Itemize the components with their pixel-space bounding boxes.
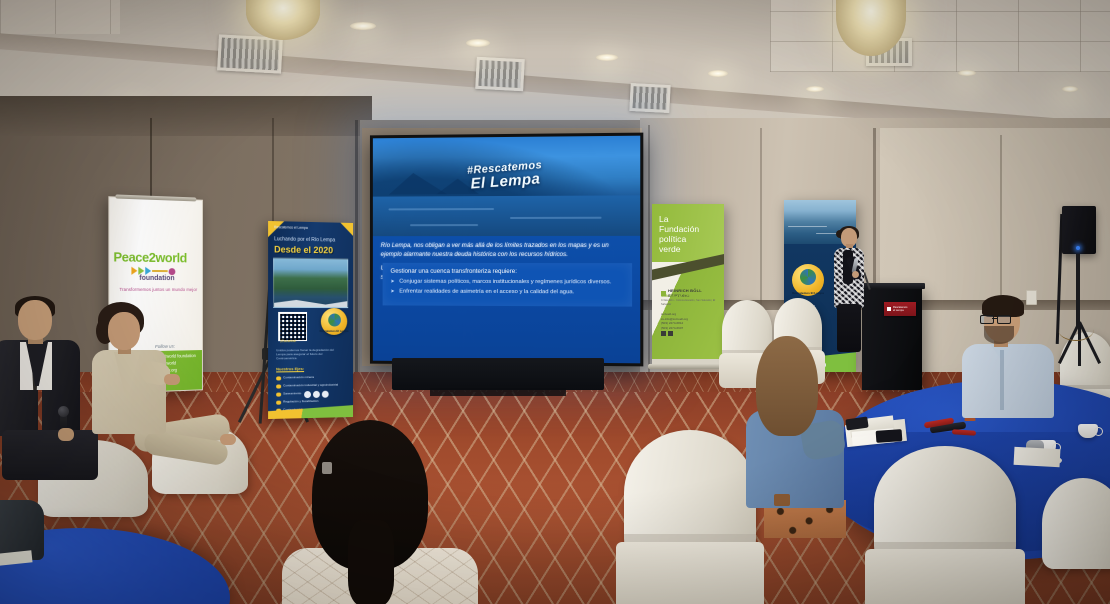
lempa-badge-logo: Rescatemos El Lempa (321, 308, 347, 335)
banner-list-item: Contaminación industrial y agroindustria… (276, 383, 338, 388)
bullet-dot-icon (276, 384, 281, 389)
handout-paper[interactable] (1014, 447, 1061, 467)
chandelier-body (246, 0, 320, 40)
item-label: Contaminación industrial y agroindustria… (283, 383, 338, 388)
hbs-city: SAN SALVADOR (661, 294, 689, 298)
hand (164, 374, 180, 385)
beard (984, 326, 1014, 344)
instagram-icon[interactable] (313, 391, 320, 398)
wave-divider (274, 297, 347, 307)
peace2world-subtitle: foundation (139, 275, 174, 282)
ceiling-tile-grid-left (0, 0, 120, 34)
twitter-icon[interactable] (668, 331, 673, 336)
dot-icon (169, 268, 176, 275)
hand (58, 428, 74, 441)
head (108, 312, 140, 350)
wall-panel-seam (648, 125, 650, 405)
screen-stand-base (392, 358, 604, 390)
shirt-placket (1000, 350, 1004, 410)
chandelier-left (246, 0, 320, 40)
peace2world-title: Peace2world (113, 250, 201, 264)
peace2world-tagline: Transformemos juntos un mundo mejor (119, 287, 197, 292)
chair-cover[interactable] (1042, 478, 1110, 604)
headline-line-3: política (659, 234, 699, 244)
ceiling-downlight-icon (1062, 86, 1078, 92)
banner-line-1: Luchando por el Río Lempa (274, 236, 335, 243)
screen-stand-foot (430, 388, 566, 396)
wall-left-shadow (0, 96, 372, 136)
water-highlight (510, 217, 602, 219)
slide-callout-box: Gestionar una cuenca transfronteriza req… (383, 263, 632, 306)
badge-label: Rescatemos El Lempa (792, 291, 824, 295)
glasses-icon (980, 315, 1010, 322)
chandelier-right (836, 0, 906, 56)
microphone-head-icon (58, 406, 69, 417)
air-vent-icon (629, 83, 670, 113)
banner-list-item: Saneamiento (276, 391, 301, 395)
arrow-line (152, 270, 168, 272)
ceiling-downlight-icon (708, 70, 728, 77)
social-icons-row[interactable] (304, 391, 329, 398)
slide-bullet: Enfrentar realidades de asimetría en el … (390, 288, 626, 297)
slide-paragraph-1: Río Lempa, nos obligan a ver más allá de… (381, 241, 632, 260)
podium-sign: Rescatemos el Lempa (884, 302, 916, 316)
water-highlight (389, 208, 495, 210)
lempa-badge-logo: Rescatemos El Lempa (792, 264, 824, 296)
arrow-icon (131, 267, 137, 275)
air-vent-icon (475, 57, 525, 91)
attendee-foreground-woman (286, 420, 476, 604)
arrow-icon (138, 267, 144, 275)
hbs-phone-2: (503) 2274-6907 (661, 326, 688, 331)
slide-box-heading: Gestionar una cuenca transfronteriza req… (390, 268, 626, 277)
water-highlight (788, 226, 827, 228)
banner-line-2: Desde el 2020 (274, 244, 333, 255)
ceiling-tile-grid-right (770, 0, 1110, 72)
hbs-headline: La Fundación política verde (659, 214, 699, 255)
hair (982, 295, 1024, 317)
facebook-icon[interactable] (304, 391, 311, 398)
conference-room-photo: #Rescatemos El Lempa Río Lempa, nos obli… (0, 0, 1110, 604)
banner-org-small: Rescatemos el Lempa (274, 225, 308, 230)
hair-clip (322, 462, 332, 474)
banner-roll-base (648, 364, 728, 369)
bullet-dot-icon (276, 376, 281, 381)
ceiling-downlight-icon (596, 54, 618, 61)
title-part-peace: Peace (113, 249, 148, 265)
panelist-woman (86, 308, 256, 478)
bullet-dot-icon (276, 400, 281, 405)
pocket (774, 494, 790, 506)
presentation-screen[interactable]: #Rescatemos El Lempa Río Lempa, nos obli… (370, 133, 643, 367)
item-label: Contaminación minera (283, 375, 314, 379)
ceiling-downlight-icon (466, 39, 490, 47)
item-label: Regulación y fiscalización (283, 399, 318, 404)
badge-globe-icon (328, 313, 341, 326)
hbs-address: C/ Escalón - Colonia Escalón, San Salvad… (661, 299, 724, 306)
light-blue-shirt (962, 344, 1054, 418)
rescatemos-lempa-logo: #Rescatemos El Lempa (467, 160, 544, 192)
badge-globe-icon (800, 269, 816, 285)
head (18, 300, 52, 340)
podium-sign-line-2: el Lempa (893, 309, 904, 312)
arrow-decoration-icon (131, 267, 175, 275)
slide-header-image: #Rescatemos El Lempa (373, 136, 640, 236)
lake-water (373, 196, 640, 236)
lap-trousers (2, 430, 98, 480)
item-label: Saneamiento (283, 391, 301, 395)
hbs-contact-block: sv.boell.org sv-info@sv.boell.org (503) … (661, 312, 688, 330)
qr-code-icon[interactable] (278, 312, 307, 341)
corner-accent (340, 223, 353, 236)
chair-cover[interactable] (624, 430, 756, 604)
lens-left (980, 315, 994, 324)
attendee-denim-jacket (746, 336, 876, 536)
podium-sign-text: Rescatemos el Lempa (893, 306, 907, 312)
speaker-stand-pole (1076, 254, 1080, 326)
banner-river-photo (273, 257, 348, 308)
hand (852, 271, 859, 278)
banner-list-item: Contaminación minera (276, 375, 314, 380)
mountain-silhouette (389, 173, 448, 195)
chair-seat (865, 549, 1024, 604)
youtube-icon[interactable] (322, 391, 329, 398)
chair-cover[interactable] (874, 446, 1016, 604)
badge-label: Rescatemos El Lempa (320, 329, 349, 333)
foot (220, 434, 236, 445)
banner-heinrich-boell: La Fundación política verde HEINRICH BÖL… (652, 204, 724, 364)
chair-seat (616, 542, 764, 604)
arrow-icon (145, 267, 151, 275)
hbs-social-icons[interactable] (661, 331, 673, 336)
title-part-world: world (155, 250, 186, 265)
ceiling-downlight-icon (806, 86, 824, 92)
logo-name-line: El Lempa (467, 171, 543, 192)
ceiling-downlight-icon (350, 22, 376, 30)
qr-caption: ¡Escanea! (280, 339, 296, 343)
ceiling-downlight-icon (958, 70, 976, 76)
air-vent-icon (217, 34, 283, 73)
headline-line-1: La (659, 214, 699, 224)
banner-section-heading: Nuestros Ejes: (276, 366, 304, 371)
banner-rio-lempa: Rescatemos el Lempa Luchando por el Río … (268, 221, 353, 419)
podium-logo-icon (887, 307, 891, 311)
attendee-man-glasses (960, 300, 1068, 420)
qr-pattern (280, 313, 306, 339)
pa-speaker (1062, 206, 1096, 254)
hair (756, 336, 818, 436)
lens-right (997, 315, 1011, 324)
banner-list-item: Regulación y fiscalización (276, 399, 318, 404)
glasses-bridge (992, 318, 997, 319)
headline-line-2: Fundación (659, 224, 699, 234)
smartphone[interactable] (876, 429, 903, 443)
chandelier-body (836, 0, 906, 56)
bullet-dot-icon (276, 392, 281, 397)
hair-strand (348, 520, 394, 604)
power-led-icon (1076, 246, 1080, 250)
chair-back (1042, 478, 1110, 569)
facebook-icon[interactable] (661, 331, 666, 336)
water-highlight (410, 224, 479, 226)
headline-line-4: verde (659, 244, 699, 254)
slide-bullet: Conjugar sistemas políticos, marcos inst… (390, 279, 626, 288)
banner-paragraph: Unidos podemos frenar la degradación del… (276, 348, 343, 361)
